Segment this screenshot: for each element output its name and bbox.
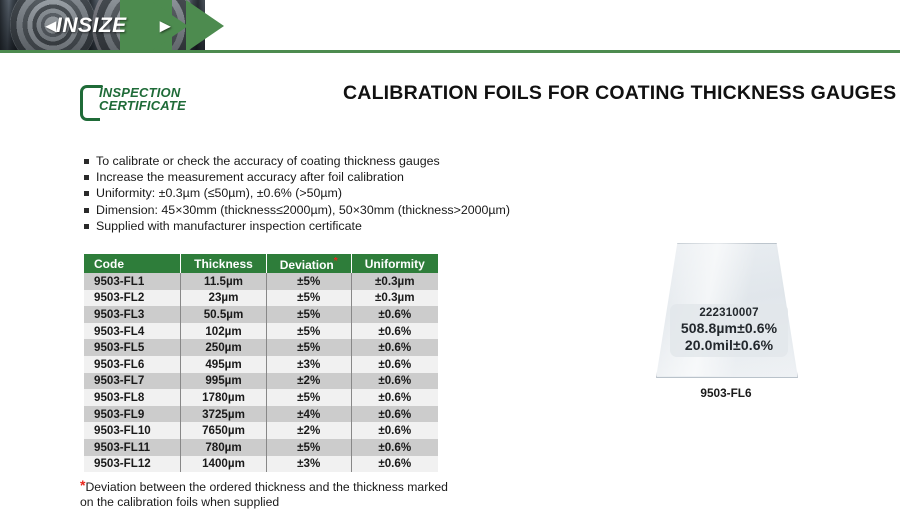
table-row: 9503-FL5 250µm ±5% ±0.6% bbox=[84, 339, 438, 356]
column-header-uniformity: Uniformity bbox=[351, 254, 438, 273]
footnote-line-2: on the calibration foils when supplied bbox=[80, 495, 279, 509]
logo-left-arrow-icon: ◂ bbox=[46, 16, 56, 36]
cell-code: 9503-FL2 bbox=[84, 290, 181, 307]
cell-uniformity: ±0.6% bbox=[351, 373, 438, 390]
feature-text: Uniformity: ±0.3µm (≤50µm), ±0.6% (>50µm… bbox=[96, 186, 342, 201]
cell-code: 9503-FL10 bbox=[84, 422, 181, 439]
table-row: 9503-FL1 11.5µm ±5% ±0.3µm bbox=[84, 273, 438, 290]
table-row: 9503-FL9 3725µm ±4% ±0.6% bbox=[84, 406, 438, 423]
table-row: 9503-FL11 780µm ±5% ±0.6% bbox=[84, 439, 438, 456]
cell-uniformity: ±0.6% bbox=[351, 306, 438, 323]
cell-code: 9503-FL12 bbox=[84, 456, 181, 473]
product-caption: 9503-FL6 bbox=[628, 386, 824, 400]
cell-thickness: 23µm bbox=[181, 290, 267, 307]
feature-text: Supplied with manufacturer inspection ce… bbox=[96, 219, 362, 234]
cell-uniformity: ±0.6% bbox=[351, 389, 438, 406]
insize-logo: INSIZE bbox=[56, 14, 127, 38]
certificate-text: INSPECTION CERTIFICATE bbox=[99, 86, 186, 112]
specification-table: Code Thickness Deviation* Uniformity 950… bbox=[84, 254, 438, 472]
cell-uniformity: ±0.6% bbox=[351, 456, 438, 473]
cell-uniformity: ±0.6% bbox=[351, 323, 438, 340]
foil-imperial-value: 20.0mil±0.6% bbox=[670, 337, 788, 354]
list-item: Dimension: 45×30mm (thickness≤2000µm), 5… bbox=[84, 203, 644, 218]
inspection-certificate-badge: INSPECTION CERTIFICATE bbox=[80, 84, 210, 120]
cell-thickness: 1780µm bbox=[181, 389, 267, 406]
bullet-icon bbox=[84, 159, 89, 164]
cell-uniformity: ±0.3µm bbox=[351, 273, 438, 290]
cell-deviation: ±5% bbox=[266, 439, 351, 456]
feature-list: To calibrate or check the accuracy of co… bbox=[84, 154, 644, 235]
cell-thickness: 3725µm bbox=[181, 406, 267, 423]
cell-thickness: 1400µm bbox=[181, 456, 267, 473]
header-divider bbox=[0, 50, 900, 53]
column-header-deviation-label: Deviation bbox=[280, 258, 334, 272]
cell-code: 9503-FL1 bbox=[84, 273, 181, 290]
cell-thickness: 50.5µm bbox=[181, 306, 267, 323]
cell-deviation: ±5% bbox=[266, 389, 351, 406]
cell-thickness: 11.5µm bbox=[181, 273, 267, 290]
bullet-icon bbox=[84, 208, 89, 213]
cell-deviation: ±5% bbox=[266, 290, 351, 307]
cell-uniformity: ±0.6% bbox=[351, 406, 438, 423]
list-item: Supplied with manufacturer inspection ce… bbox=[84, 219, 644, 234]
cell-thickness: 995µm bbox=[181, 373, 267, 390]
bullet-icon bbox=[84, 224, 89, 229]
table-body: 9503-FL1 11.5µm ±5% ±0.3µm 9503-FL2 23µm… bbox=[84, 273, 438, 472]
table-row: 9503-FL6 495µm ±3% ±0.6% bbox=[84, 356, 438, 373]
cell-code: 9503-FL6 bbox=[84, 356, 181, 373]
cell-deviation: ±5% bbox=[266, 339, 351, 356]
footnote: *Deviation between the ordered thickness… bbox=[80, 480, 480, 509]
table-row: 9503-FL4 102µm ±5% ±0.6% bbox=[84, 323, 438, 340]
list-item: Uniformity: ±0.3µm (≤50µm), ±0.6% (>50µm… bbox=[84, 186, 644, 201]
list-item: To calibrate or check the accuracy of co… bbox=[84, 154, 644, 169]
table-header-row: Code Thickness Deviation* Uniformity bbox=[84, 254, 438, 273]
feature-text: Dimension: 45×30mm (thickness≤2000µm), 5… bbox=[96, 203, 510, 218]
cell-deviation: ±4% bbox=[266, 406, 351, 423]
cell-uniformity: ±0.6% bbox=[351, 439, 438, 456]
cell-deviation: ±5% bbox=[266, 323, 351, 340]
bullet-icon bbox=[84, 191, 89, 196]
certificate-line-2: CERTIFICATE bbox=[99, 99, 186, 112]
cell-uniformity: ±0.6% bbox=[351, 339, 438, 356]
footnote-line-1: Deviation between the ordered thickness … bbox=[85, 480, 447, 494]
cell-deviation: ±5% bbox=[266, 273, 351, 290]
foil-serial-number: 222310007 bbox=[670, 306, 788, 320]
cell-deviation: ±3% bbox=[266, 456, 351, 473]
table-row: 9503-FL3 50.5µm ±5% ±0.6% bbox=[84, 306, 438, 323]
green-chevron-arrow-secondary bbox=[186, 0, 224, 52]
cell-uniformity: ±0.6% bbox=[351, 422, 438, 439]
cell-thickness: 102µm bbox=[181, 323, 267, 340]
cell-thickness: 495µm bbox=[181, 356, 267, 373]
cell-code: 9503-FL4 bbox=[84, 323, 181, 340]
foil-printed-label: 222310007 508.8µm±0.6% 20.0mil±0.6% bbox=[670, 304, 788, 357]
cell-deviation: ±5% bbox=[266, 306, 351, 323]
column-header-deviation: Deviation* bbox=[266, 254, 351, 273]
table-row: 9503-FL12 1400µm ±3% ±0.6% bbox=[84, 456, 438, 473]
cell-deviation: ±3% bbox=[266, 356, 351, 373]
cell-thickness: 780µm bbox=[181, 439, 267, 456]
cell-uniformity: ±0.3µm bbox=[351, 290, 438, 307]
cell-code: 9503-FL9 bbox=[84, 406, 181, 423]
column-header-thickness: Thickness bbox=[181, 254, 267, 273]
cell-thickness: 250µm bbox=[181, 339, 267, 356]
cell-code: 9503-FL3 bbox=[84, 306, 181, 323]
cell-code: 9503-FL8 bbox=[84, 389, 181, 406]
page-title: CALIBRATION FOILS FOR COATING THICKNESS … bbox=[343, 82, 896, 105]
table-row: 9503-FL8 1780µm ±5% ±0.6% bbox=[84, 389, 438, 406]
certificate-bracket-icon bbox=[80, 85, 100, 121]
cell-code: 9503-FL5 bbox=[84, 339, 181, 356]
feature-text: To calibrate or check the accuracy of co… bbox=[96, 154, 440, 169]
table-row: 9503-FL7 995µm ±2% ±0.6% bbox=[84, 373, 438, 390]
product-image: 222310007 508.8µm±0.6% 20.0mil±0.6% 9503… bbox=[628, 243, 848, 403]
column-header-code: Code bbox=[84, 254, 181, 273]
footnote-marker-icon: * bbox=[334, 256, 338, 267]
cell-thickness: 7650µm bbox=[181, 422, 267, 439]
bullet-icon bbox=[84, 175, 89, 180]
table-row: 9503-FL10 7650µm ±2% ±0.6% bbox=[84, 422, 438, 439]
list-item: Increase the measurement accuracy after … bbox=[84, 170, 644, 185]
cell-uniformity: ±0.6% bbox=[351, 356, 438, 373]
cell-code: 9503-FL11 bbox=[84, 439, 181, 456]
table-row: 9503-FL2 23µm ±5% ±0.3µm bbox=[84, 290, 438, 307]
cell-code: 9503-FL7 bbox=[84, 373, 181, 390]
header-banner: ◂ INSIZE ▸ bbox=[0, 0, 900, 52]
cell-deviation: ±2% bbox=[266, 422, 351, 439]
foil-metric-value: 508.8µm±0.6% bbox=[670, 320, 788, 337]
logo-right-arrow-icon: ▸ bbox=[160, 16, 170, 36]
cell-deviation: ±2% bbox=[266, 373, 351, 390]
feature-text: Increase the measurement accuracy after … bbox=[96, 170, 404, 185]
